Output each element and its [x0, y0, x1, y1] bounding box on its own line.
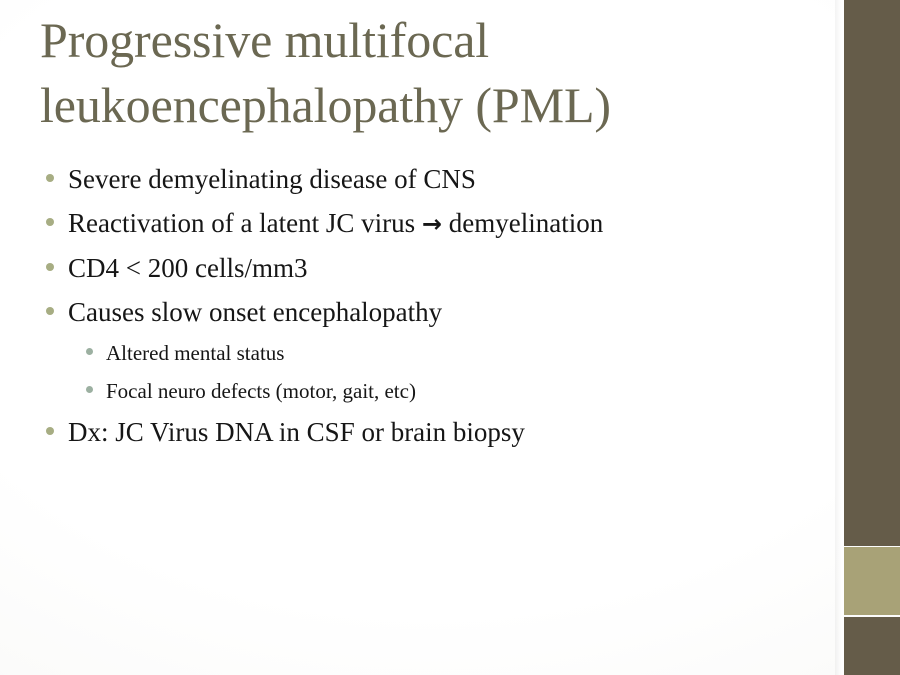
side-gutter-shadow: [835, 0, 844, 675]
bullet-item-level1: Dx: JC Virus DNA in CSF or brain biopsy: [46, 410, 816, 454]
bullet-text: Reactivation of a latent JC virus → demy…: [68, 201, 816, 246]
bullet-dot-icon: [86, 386, 93, 393]
bullet-dot-icon: [46, 174, 54, 182]
bullet-dot-icon: [46, 427, 54, 435]
bullet-text: Dx: JC Virus DNA in CSF or brain biopsy: [68, 410, 816, 454]
bullet-text: Causes slow onset encephalopathy: [68, 290, 816, 334]
bullet-item-level1: Causes slow onset encephalopathy: [46, 290, 816, 334]
side-band-top: [844, 0, 900, 546]
bullet-dot-icon: [46, 218, 54, 226]
bullet-dot-icon: [46, 307, 54, 315]
bullet-dot-icon: [46, 263, 54, 271]
bullet-item-level1: Severe demyelinating disease of CNS: [46, 157, 816, 201]
slide-canvas: Progressive multifocal leukoencephalopat…: [0, 0, 900, 675]
side-band-middle: [844, 547, 900, 615]
bullet-item-level1: Reactivation of a latent JC virus → demy…: [46, 201, 816, 246]
bullet-item-level1: CD4 < 200 cells/mm3: [46, 246, 816, 290]
arrow-right-icon: →: [422, 210, 442, 238]
bullet-item-level2: Focal neuro defects (motor, gait, etc): [46, 372, 816, 410]
bullet-item-level2: Altered mental status: [46, 334, 816, 372]
slide-title: Progressive multifocal leukoencephalopat…: [40, 8, 800, 138]
side-decoration-bars: [844, 0, 900, 675]
bullet-text: Severe demyelinating disease of CNS: [68, 157, 816, 201]
bullet-text: CD4 < 200 cells/mm3: [68, 246, 816, 290]
bullet-text: Focal neuro defects (motor, gait, etc): [106, 372, 816, 410]
bullet-text: Altered mental status: [106, 334, 816, 372]
bullet-dot-icon: [86, 348, 93, 355]
slide-body-list: Severe demyelinating disease of CNSReact…: [46, 157, 816, 454]
side-band-bottom: [844, 617, 900, 675]
